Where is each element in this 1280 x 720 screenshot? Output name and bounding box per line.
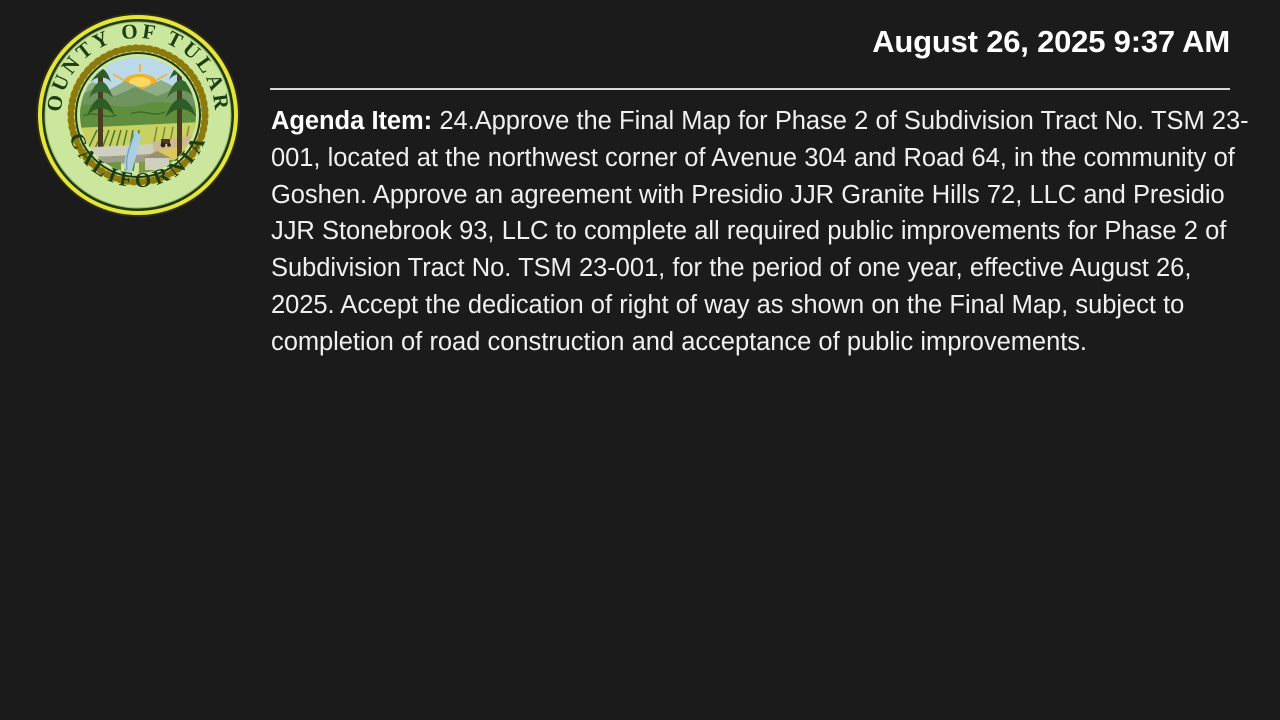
- header-divider: [270, 88, 1230, 90]
- agenda-item-text: 24.Approve the Final Map for Phase 2 of …: [271, 107, 1249, 356]
- agenda-item-block: Agenda Item: 24.Approve the Final Map fo…: [271, 103, 1249, 361]
- agenda-item-label: Agenda Item:: [271, 107, 432, 135]
- county-seal: COUNTY OF TULARE CALIFORNIA: [35, 12, 241, 218]
- meeting-datetime: August 26, 2025 9:37 AM: [872, 24, 1230, 60]
- agenda-slide: COUNTY OF TULARE CALIFORNIA August 26, 2…: [0, 0, 1280, 720]
